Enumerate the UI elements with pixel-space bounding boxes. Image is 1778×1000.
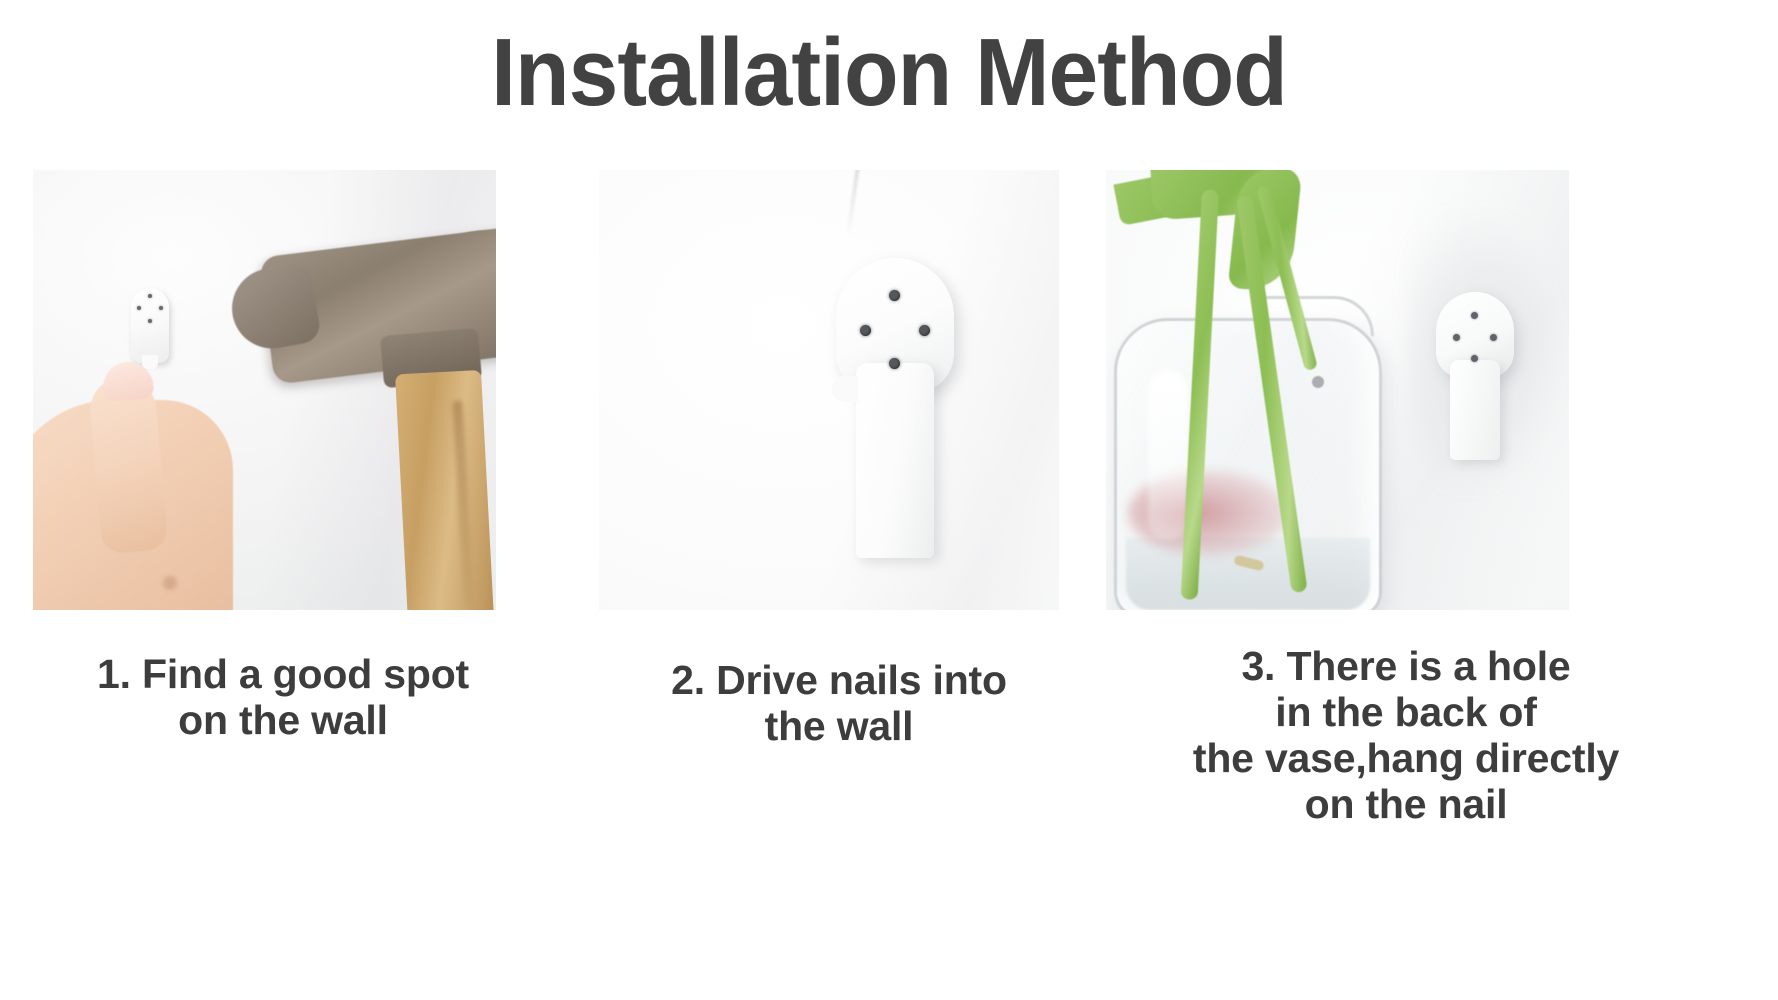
wall-background-icon: [599, 170, 1059, 610]
vase-back-hole-icon: [1312, 376, 1324, 388]
nail-icon: [148, 319, 152, 323]
wall-hook-icon: [836, 258, 954, 558]
caption-line: the wall: [599, 704, 1079, 750]
step-1-caption: 1. Find a good spot on the wall: [33, 652, 533, 744]
vase-highlight-shape: [1148, 370, 1188, 540]
hammer-icon: [226, 200, 496, 610]
nail-icon: [137, 306, 141, 310]
nail-icon: [1490, 334, 1497, 341]
page-title: Installation Method: [62, 18, 1716, 128]
step-3: 3. There is a hole in the back of the va…: [1102, 170, 1712, 828]
step-1: 1. Find a good spot on the wall: [33, 170, 563, 744]
step-3-photo: [1106, 170, 1569, 610]
caption-line: on the nail: [1102, 782, 1710, 828]
fingernail-shape: [102, 360, 155, 401]
step-2-photo: [599, 170, 1059, 610]
knuckle-shadow: [163, 576, 177, 590]
nail-icon: [1453, 334, 1460, 341]
caption-line: on the wall: [33, 698, 533, 744]
step-3-caption: 3. There is a hole in the back of the va…: [1102, 644, 1710, 828]
vase-neck-shape: [1256, 296, 1374, 336]
nail-icon: [1471, 355, 1478, 362]
hammer-handle-shape: [395, 370, 495, 610]
nail-icon: [889, 358, 900, 369]
caption-line: 1. Find a good spot: [33, 652, 533, 698]
caption-line: 2. Drive nails into: [599, 658, 1079, 704]
steps-row: 1. Find a good spot on the wall 2. Drive…: [0, 170, 1778, 828]
nail-holes-group: [131, 292, 169, 330]
hook-stem-shape: [1450, 360, 1500, 460]
hook-stem-shape: [856, 363, 934, 558]
caption-line: 3. There is a hole: [1102, 644, 1710, 690]
hand-icon: [33, 350, 258, 610]
nail-icon: [860, 325, 871, 336]
step-2-caption: 2. Drive nails into the wall: [599, 658, 1079, 750]
nail-icon: [1471, 312, 1478, 319]
nail-icon: [159, 306, 163, 310]
nail-icon: [919, 325, 930, 336]
hook-lip-shape: [832, 376, 858, 402]
caption-line: the vase,hang directly: [1102, 736, 1710, 782]
hammer-peen-shape: [226, 261, 323, 354]
wall-hook-icon: [1436, 292, 1514, 460]
caption-line: in the back of: [1102, 690, 1710, 736]
step-1-photo: [33, 170, 496, 610]
nail-icon: [148, 294, 152, 298]
step-2: 2. Drive nails into the wall: [599, 170, 1099, 750]
nail-icon: [889, 290, 900, 301]
